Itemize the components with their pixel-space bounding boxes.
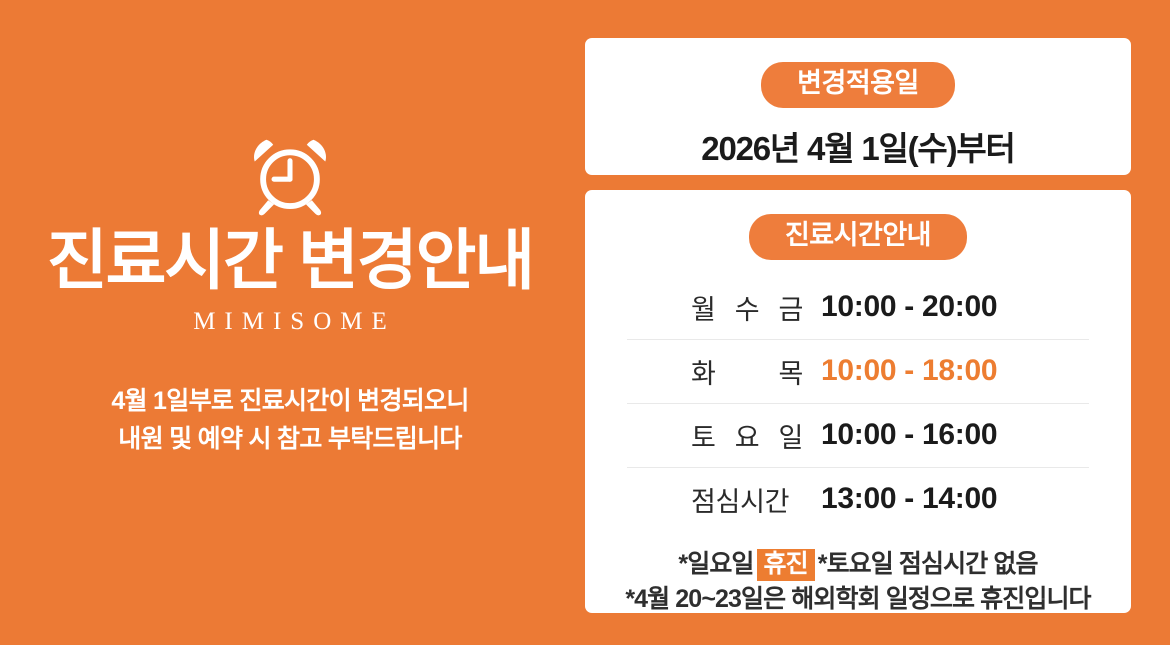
schedule-day-label: 점심시간 bbox=[627, 467, 821, 531]
table-row: 점심시간 13:00 - 14:00 bbox=[627, 467, 1089, 531]
footnote-saturday-text: *토요일 점심시간 없음 bbox=[818, 550, 1038, 578]
effective-date-badge: 변경적용일 bbox=[761, 62, 955, 108]
alarm-clock-icon bbox=[248, 133, 332, 217]
effective-date-value: 2026년 4월 1일(수)부터 bbox=[701, 122, 1014, 170]
clinic-hours-card: 진료시간안내 월 수 금 10:00 - 20:00 화 목 10:00 - 1… bbox=[585, 190, 1131, 613]
table-row: 화 목 10:00 - 18:00 bbox=[627, 339, 1089, 403]
schedule-day-label: 화 목 bbox=[627, 339, 821, 403]
closed-highlight-badge: 휴진 bbox=[757, 549, 815, 581]
brand-name: MIMISOME bbox=[184, 308, 396, 336]
footnote-line-1: *일요일휴진*토요일 점심시간 없음 bbox=[625, 547, 1090, 583]
page-title: 진료시간 변경안내 bbox=[47, 227, 533, 294]
description-line-2: 내원 및 예약 시 참고 부탁드립니다 bbox=[111, 420, 468, 458]
schedule-day-label: 토 요 일 bbox=[627, 403, 821, 467]
description-text: 4월 1일부로 진료시간이 변경되오니 내원 및 예약 시 참고 부탁드립니다 bbox=[111, 382, 468, 458]
schedule-table: 월 수 금 10:00 - 20:00 화 목 10:00 - 18:00 토 … bbox=[627, 276, 1089, 531]
schedule-time-value: 10:00 - 20:00 bbox=[821, 276, 1089, 340]
table-row: 월 수 금 10:00 - 20:00 bbox=[627, 276, 1089, 340]
schedule-time-value: 10:00 - 16:00 bbox=[821, 403, 1089, 467]
schedule-time-value: 10:00 - 18:00 bbox=[821, 339, 1089, 403]
schedule-day-label: 월 수 금 bbox=[627, 276, 821, 340]
table-row: 토 요 일 10:00 - 16:00 bbox=[627, 403, 1089, 467]
left-panel: 진료시간 변경안내 MIMISOME 4월 1일부로 진료시간이 변경되오니 내… bbox=[0, 0, 580, 645]
description-line-1: 4월 1일부로 진료시간이 변경되오니 bbox=[111, 382, 468, 420]
clinic-hours-badge: 진료시간안내 bbox=[749, 214, 967, 260]
poster-canvas: 진료시간 변경안내 MIMISOME 4월 1일부로 진료시간이 변경되오니 내… bbox=[0, 0, 1170, 645]
schedule-time-value: 13:00 - 14:00 bbox=[821, 467, 1089, 531]
footnotes: *일요일휴진*토요일 점심시간 없음 *4월 20~23일은 해외학회 일정으로… bbox=[625, 547, 1090, 618]
right-panel: 변경적용일 2026년 4월 1일(수)부터 진료시간안내 월 수 금 10:0… bbox=[585, 0, 1131, 645]
effective-date-card: 변경적용일 2026년 4월 1일(수)부터 bbox=[585, 38, 1131, 175]
footnote-line-2: *4월 20~23일은 해외학회 일정으로 휴진입니다 bbox=[625, 582, 1090, 618]
footnote-sunday-text: *일요일 bbox=[678, 550, 753, 578]
